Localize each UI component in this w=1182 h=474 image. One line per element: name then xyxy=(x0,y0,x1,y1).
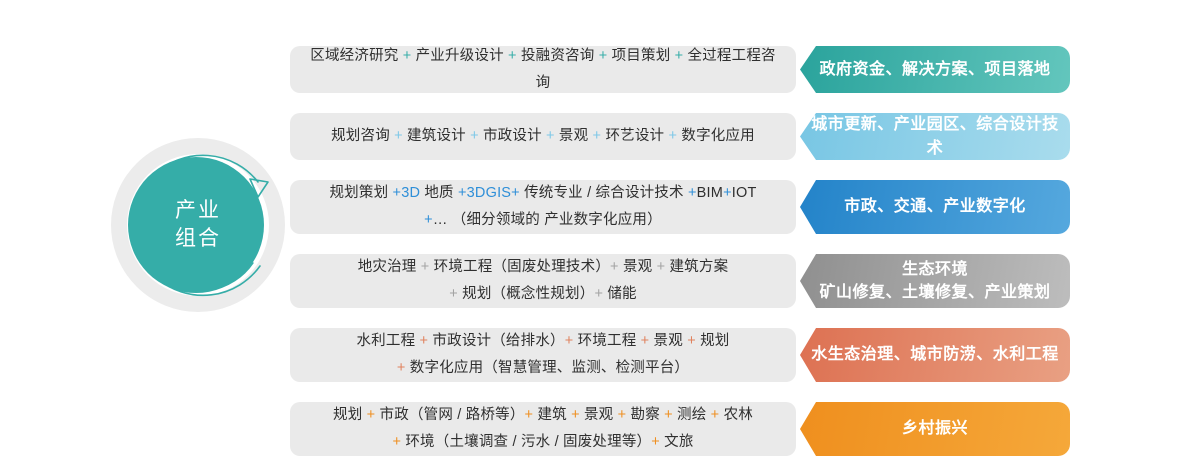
item-label: 环艺设计 xyxy=(601,128,668,144)
plus-separator: + xyxy=(546,128,555,144)
service-items-bar: 规划咨询 + 建筑设计 + 市政设计 + 景观 + 环艺设计 + 数字化应用 xyxy=(290,113,796,160)
outcome-tag[interactable]: 市政、交通、产业数字化 xyxy=(800,180,1070,234)
plus-separator: + xyxy=(688,185,697,201)
service-items-text: 规划咨询 + 建筑设计 + 市政设计 + 景观 + 环艺设计 + 数字化应用 xyxy=(331,123,755,150)
plus-separator: + xyxy=(571,407,580,423)
plus-separator: + xyxy=(594,286,603,302)
item-label: 环境（土壤调查 / 污水 / 固废处理等） xyxy=(401,434,651,450)
plus-separator: + xyxy=(687,333,696,349)
plus-separator: + xyxy=(651,434,660,450)
service-items-bar: 规划 + 市政（管网 / 路桥等）+ 建筑 + 景观 + 勘察 + 测绘 + 农… xyxy=(290,402,796,456)
diagram-row: 规划咨询 + 建筑设计 + 市政设计 + 景观 + 环艺设计 + 数字化应用城市… xyxy=(290,113,1070,160)
outcome-tag[interactable]: 乡村振兴 xyxy=(800,402,1070,456)
item-label: 景观 xyxy=(580,407,618,423)
item-label: 规划 xyxy=(333,407,367,423)
outcome-tag[interactable]: 生态环境 矿山修复、土壤修复、产业策划 xyxy=(800,254,1070,308)
plus-separator: + xyxy=(449,286,458,302)
item-label: IOT xyxy=(732,185,757,201)
item-label: 区域经济研究 xyxy=(310,48,402,64)
plus-separator: + xyxy=(664,407,673,423)
outcome-tag-label: 市政、交通、产业数字化 xyxy=(844,195,1026,218)
outcome-tag-label: 政府资金、解决方案、项目落地 xyxy=(819,58,1050,81)
service-items-bar: 地灾治理 + 环境工程（固废处理技术）+ 景观 + 建筑方案 + 规划（概念性规… xyxy=(290,254,796,308)
plus-separator: + xyxy=(424,212,433,228)
item-label: 产业升级设计 xyxy=(411,48,508,64)
plus-separator: + xyxy=(618,407,627,423)
item-label: 储能 xyxy=(603,286,637,302)
item-label: 3DGIS xyxy=(467,185,512,201)
item-label: 市政设计（给排水） xyxy=(428,333,565,349)
item-label: 传统专业 / 综合设计技术 xyxy=(520,185,688,201)
plus-separator: + xyxy=(723,185,732,201)
item-label: 文旅 xyxy=(660,434,694,450)
diagram-row: 规划 + 市政（管网 / 路桥等）+ 建筑 + 景观 + 勘察 + 测绘 + 农… xyxy=(290,402,1070,456)
plus-separator: + xyxy=(393,185,402,201)
item-label: 项目策划 xyxy=(607,48,674,64)
outcome-tag-label: 乡村振兴 xyxy=(902,417,968,440)
service-items-text: 规划 + 市政（管网 / 路桥等）+ 建筑 + 景观 + 勘察 + 测绘 + 农… xyxy=(333,402,753,456)
plus-separator: + xyxy=(392,434,401,450)
item-label: 水利工程 xyxy=(356,333,419,349)
item-label: 数字化应用（智慧管理、监测、检测平台） xyxy=(406,360,690,376)
item-label: 农林 xyxy=(719,407,753,423)
plus-separator: + xyxy=(525,407,534,423)
plus-separator: + xyxy=(610,259,619,275)
outcome-tag[interactable]: 水生态治理、城市防涝、水利工程 xyxy=(800,328,1070,382)
outcome-tag[interactable]: 城市更新、产业园区、综合设计技术 xyxy=(800,113,1070,160)
item-label: 勘察 xyxy=(626,407,664,423)
item-label: 数字化应用 xyxy=(677,128,755,144)
rows-container: 区域经济研究 + 产业升级设计 + 投融资咨询 + 项目策划 + 全过程工程咨询… xyxy=(290,46,1070,456)
outcome-tag[interactable]: 政府资金、解决方案、项目落地 xyxy=(800,46,1070,93)
plus-separator: + xyxy=(470,128,479,144)
item-label: 规划（概念性规划） xyxy=(458,286,595,302)
item-label: 建筑设计 xyxy=(403,128,470,144)
outcome-tag-label: 城市更新、产业园区、综合设计技术 xyxy=(810,113,1060,159)
plus-separator: + xyxy=(668,128,677,144)
diagram-row: 水利工程 + 市政设计（给排水）+ 环境工程 + 景观 + 规划 + 数字化应用… xyxy=(290,328,1070,382)
item-label: 市政设计 xyxy=(479,128,546,144)
service-items-text: 地灾治理 + 环境工程（固废处理技术）+ 景观 + 建筑方案 + 规划（概念性规… xyxy=(358,254,729,308)
item-label: 规划咨询 xyxy=(331,128,394,144)
service-items-text: 水利工程 + 市政设计（给排水）+ 环境工程 + 景观 + 规划 + 数字化应用… xyxy=(356,328,729,382)
hub-graphic: 产业 组合 xyxy=(108,135,288,315)
plus-separator: + xyxy=(593,128,602,144)
plus-separator: + xyxy=(675,48,684,64)
outcome-tag-label: 水生态治理、城市防涝、水利工程 xyxy=(811,343,1059,366)
item-label: 环境工程（固废处理技术） xyxy=(429,259,610,275)
item-label: 建筑 xyxy=(533,407,571,423)
plus-separator: + xyxy=(394,128,403,144)
hub-disc xyxy=(128,157,264,293)
service-items-text: 规划策划 +3D 地质 +3DGIS+ 传统专业 / 综合设计技术 +BIM+I… xyxy=(329,180,756,234)
item-label: 景观 xyxy=(555,128,593,144)
item-label: 投融资咨询 xyxy=(517,48,599,64)
diagram-row: 规划策划 +3D 地质 +3DGIS+ 传统专业 / 综合设计技术 +BIM+I… xyxy=(290,180,1070,234)
diagram-row: 区域经济研究 + 产业升级设计 + 投融资咨询 + 项目策划 + 全过程工程咨询… xyxy=(290,46,1070,93)
outcome-tag-label: 生态环境 矿山修复、土壤修复、产业策划 xyxy=(819,258,1050,304)
service-items-bar: 规划策划 +3D 地质 +3DGIS+ 传统专业 / 综合设计技术 +BIM+I… xyxy=(290,180,796,234)
plus-separator: + xyxy=(511,185,520,201)
item-label: 景观 xyxy=(649,333,687,349)
service-items-bar: 水利工程 + 市政设计（给排水）+ 环境工程 + 景观 + 规划 + 数字化应用… xyxy=(290,328,796,382)
item-label: … （细分领域的 产业数字化应用） xyxy=(433,212,662,228)
plus-separator: + xyxy=(508,48,517,64)
item-label: 景观 xyxy=(619,259,657,275)
item-label: 测绘 xyxy=(673,407,711,423)
item-label: 建筑方案 xyxy=(665,259,728,275)
item-label: 地灾治理 xyxy=(358,259,421,275)
plus-separator: + xyxy=(458,185,467,201)
plus-separator: + xyxy=(420,333,429,349)
hub-svg xyxy=(108,135,288,315)
item-label: 环境工程 xyxy=(573,333,640,349)
plus-separator: + xyxy=(657,259,666,275)
item-label: 市政（管网 / 路桥等） xyxy=(375,407,524,423)
service-items-text: 区域经济研究 + 产业升级设计 + 投融资咨询 + 项目策划 + 全过程工程咨询 xyxy=(306,43,780,97)
diagram-row: 地灾治理 + 环境工程（固废处理技术）+ 景观 + 建筑方案 + 规划（概念性规… xyxy=(290,254,1070,308)
item-label: 规划 xyxy=(696,333,730,349)
item-label: 规划策划 xyxy=(329,185,392,201)
item-label: BIM xyxy=(697,185,723,201)
item-label: 3D 地质 xyxy=(401,185,458,201)
plus-separator: + xyxy=(397,360,406,376)
service-items-bar: 区域经济研究 + 产业升级设计 + 投融资咨询 + 项目策划 + 全过程工程咨询 xyxy=(290,46,796,93)
